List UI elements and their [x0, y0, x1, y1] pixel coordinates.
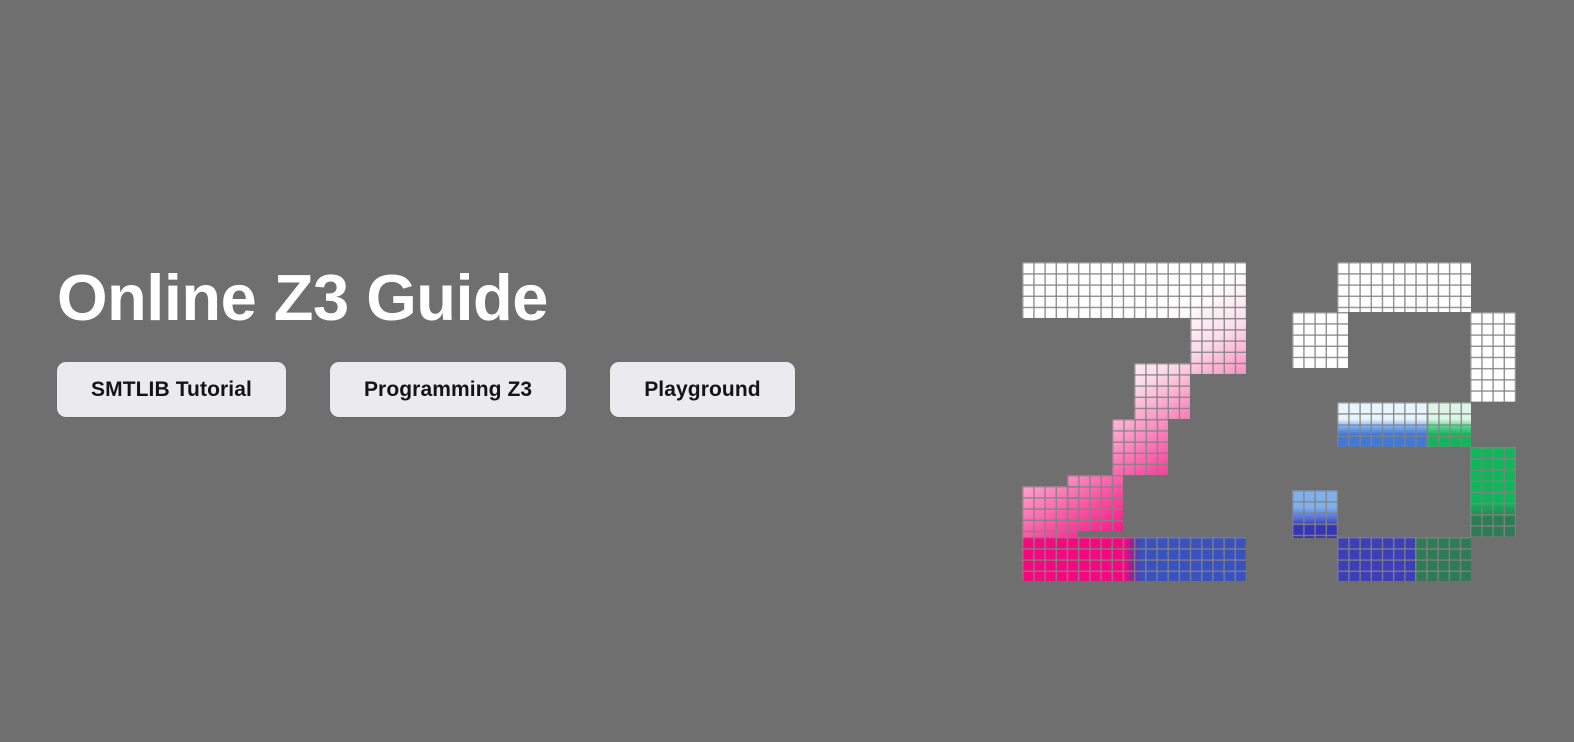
hero-text-column: Online Z3 Guide SMTLIB Tutorial Programm… [57, 258, 957, 417]
z-step-2 [1134, 363, 1190, 419]
three-lower-right-column [1470, 447, 1516, 537]
z-step-3 [1112, 419, 1168, 475]
logo-glyph-3 [1292, 262, 1517, 581]
three-upper-left-stub [1292, 312, 1348, 368]
z-step-5 [1022, 486, 1078, 542]
z-step-1 [1190, 318, 1246, 374]
programming-z3-button[interactable]: Programming Z3 [330, 362, 566, 417]
page-title: Online Z3 Guide [57, 258, 957, 338]
playground-button[interactable]: Playground [610, 362, 795, 417]
three-top-bar [1337, 262, 1471, 312]
z-bottom-bar [1022, 537, 1246, 581]
three-middle-bar-blue [1337, 402, 1427, 447]
three-bottom-bar-green [1415, 537, 1471, 581]
three-lower-left-stub [1292, 490, 1338, 538]
z3-pixel-logo [1022, 262, 1522, 592]
three-bottom-bar-blue [1337, 537, 1415, 581]
z-top-bar [1022, 262, 1246, 318]
smtlib-tutorial-button[interactable]: SMTLIB Tutorial [57, 362, 286, 417]
three-middle-bar-green [1427, 402, 1471, 447]
cta-button-row: SMTLIB Tutorial Programming Z3 Playgroun… [57, 362, 957, 417]
logo-glyph-z [1022, 262, 1247, 581]
hero-section: Online Z3 Guide SMTLIB Tutorial Programm… [0, 0, 1574, 742]
three-upper-right-column [1470, 312, 1516, 402]
